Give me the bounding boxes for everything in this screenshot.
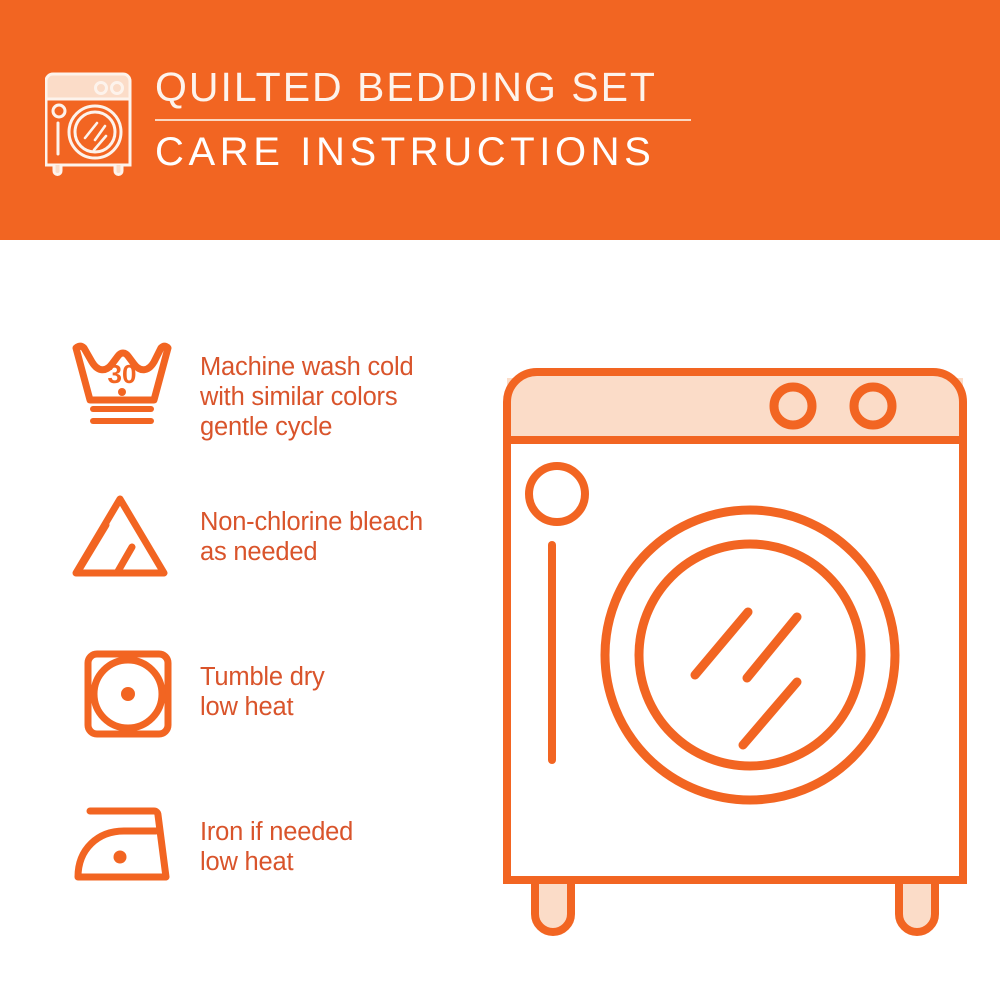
leg-left — [535, 880, 571, 932]
washing-machine-icon — [45, 66, 137, 178]
instructions-list: 30 Machine wash cold with similar colors… — [40, 330, 480, 950]
instruction-label: Tumble dry low heat — [200, 640, 480, 722]
instruction-line: Tumble dry — [200, 662, 480, 692]
washing-machine-illustration — [495, 330, 975, 945]
title-divider — [155, 119, 691, 121]
instruction-line: Non-chlorine bleach — [200, 507, 480, 537]
tumble-dry-icon — [40, 640, 200, 742]
header-content: QUILTED BEDDING SET CARE INSTRUCTIONS — [45, 62, 691, 178]
page-subtitle: CARE INSTRUCTIONS — [155, 129, 691, 175]
page-title: QUILTED BEDDING SET — [155, 64, 691, 110]
instruction-line: Iron if needed — [200, 817, 480, 847]
instruction-line: low heat — [200, 847, 480, 877]
instruction-row: Tumble dry low heat — [40, 640, 480, 795]
bleach-triangle-icon — [40, 485, 200, 581]
instruction-row: Non-chlorine bleach as needed — [40, 485, 480, 640]
header-banner: QUILTED BEDDING SET CARE INSTRUCTIONS — [0, 0, 1000, 240]
instruction-line: low heat — [200, 692, 480, 722]
instruction-line: as needed — [200, 537, 480, 567]
wash-temp-value: 30 — [108, 359, 137, 389]
instruction-row: Iron if needed low heat — [40, 795, 480, 950]
wash-tub-30-icon: 30 — [40, 330, 200, 430]
instruction-label: Machine wash cold with similar colors ge… — [200, 330, 480, 442]
instruction-line: gentle cycle — [200, 412, 480, 442]
instruction-label: Non-chlorine bleach as needed — [200, 485, 480, 567]
instruction-label: Iron if needed low heat — [200, 795, 480, 877]
header-title-group: QUILTED BEDDING SET CARE INSTRUCTIONS — [155, 62, 691, 175]
instruction-row: 30 Machine wash cold with similar colors… — [40, 330, 480, 485]
leg-right — [899, 880, 935, 932]
care-instructions-page: QUILTED BEDDING SET CARE INSTRUCTIONS 30… — [0, 0, 1000, 1000]
iron-icon — [40, 795, 200, 887]
instruction-line: with similar colors — [200, 382, 480, 412]
instruction-line: Machine wash cold — [200, 352, 480, 382]
